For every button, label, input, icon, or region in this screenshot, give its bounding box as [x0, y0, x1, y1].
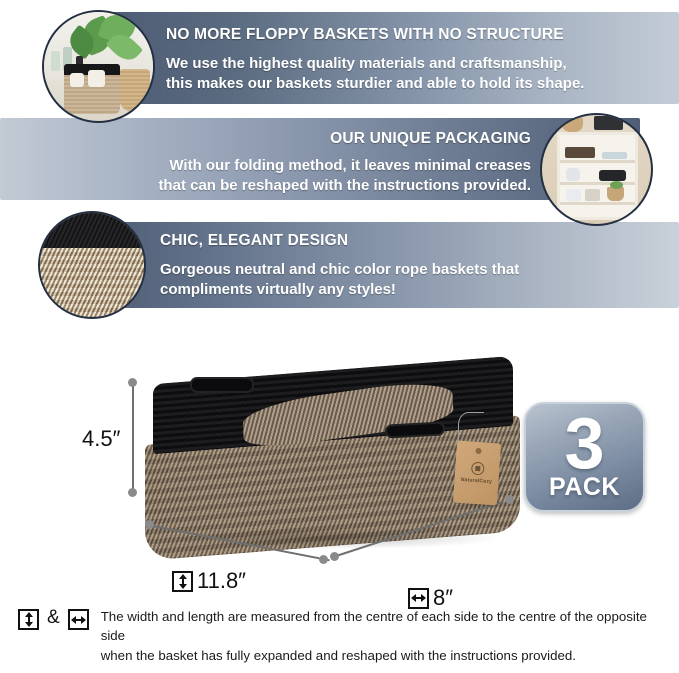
measurement-note: & The width and length are measured from…: [18, 607, 663, 665]
banner-3-body-line2: compliments virtually any styles!: [160, 280, 396, 300]
basket-handle-right: [385, 421, 446, 438]
footer-ampersand: &: [47, 607, 60, 628]
vertical-arrow-icon: [172, 571, 193, 592]
feature-banner-1: NO MORE FLOPPY BASKETS WITH NO STRUCTURE…: [0, 12, 679, 104]
infographic-page: NO MORE FLOPPY BASKETS WITH NO STRUCTURE…: [0, 0, 679, 673]
length-dimension-dot-end: [319, 555, 328, 564]
banner-1-body-line2: this makes our baskets sturdier and able…: [166, 74, 584, 94]
footer-vertical-arrow-icon: [18, 609, 39, 630]
banner-1-title: NO MORE FLOPPY BASKETS WITH NO STRUCTURE: [166, 26, 564, 44]
brand-mark-icon: [470, 462, 484, 476]
feature-banner-2: OUR UNIQUE PACKAGING With our folding me…: [0, 118, 679, 200]
pack-count-badge: 3 PACK: [524, 402, 645, 512]
length-dimension-label: 11.8″: [172, 568, 246, 594]
height-dimension-label: 4.5″: [82, 426, 120, 452]
banner-2-photo: [540, 113, 653, 226]
pack-count-number: 3: [564, 414, 604, 474]
banner-1-photo-scene: [44, 12, 153, 121]
height-dimension-line: [132, 382, 134, 494]
banner-3-photo: [38, 211, 146, 319]
banner-2-title: OUR UNIQUE PACKAGING: [330, 130, 531, 148]
hangtag-hole: [475, 448, 481, 454]
banner-1-photo: [42, 10, 155, 123]
banner-2-body-line1: With our folding method, it leaves minim…: [169, 156, 531, 176]
product-photo-area: NaturalCozy 3 PACK 4.5″ 11.8″: [0, 340, 679, 620]
length-dimension-value: 11.8″: [197, 568, 246, 594]
banner-2-photo-scene: [542, 115, 651, 224]
height-dimension-dot-top: [128, 378, 137, 387]
pack-count-word: PACK: [549, 475, 620, 500]
width-dimension-dot-end: [505, 495, 514, 504]
banner-3-photo-scene: [40, 213, 144, 317]
footer-horizontal-arrow-icon: [68, 609, 89, 630]
measurement-note-line1: The width and length are measured from t…: [101, 609, 647, 643]
banner-2-body-line2: that can be reshaped with the instructio…: [158, 176, 531, 196]
banner-1-body-line1: We use the highest quality materials and…: [166, 54, 567, 74]
feature-banner-3: CHIC, ELEGANT DESIGN Gorgeous neutral an…: [0, 222, 679, 308]
width-dimension-value: 8″: [433, 585, 453, 611]
hangtag-brand-label: NaturalCozy: [461, 477, 493, 485]
width-dimension-dot-start: [330, 552, 339, 561]
hangtag: NaturalCozy: [453, 441, 501, 506]
measurement-note-text: The width and length are measured from t…: [101, 607, 663, 665]
measurement-note-line2: when the basket has fully expanded and r…: [101, 648, 576, 663]
banner-3-title: CHIC, ELEGANT DESIGN: [160, 232, 348, 250]
basket-handle-left: [190, 377, 254, 393]
height-dimension-dot-bottom: [128, 488, 137, 497]
banner-3-body-line1: Gorgeous neutral and chic color rope bas…: [160, 260, 519, 280]
hangtag-string: [458, 412, 484, 444]
width-dimension-label: 8″: [408, 585, 453, 611]
length-dimension-dot-start: [145, 520, 154, 529]
horizontal-arrow-icon: [408, 588, 429, 609]
